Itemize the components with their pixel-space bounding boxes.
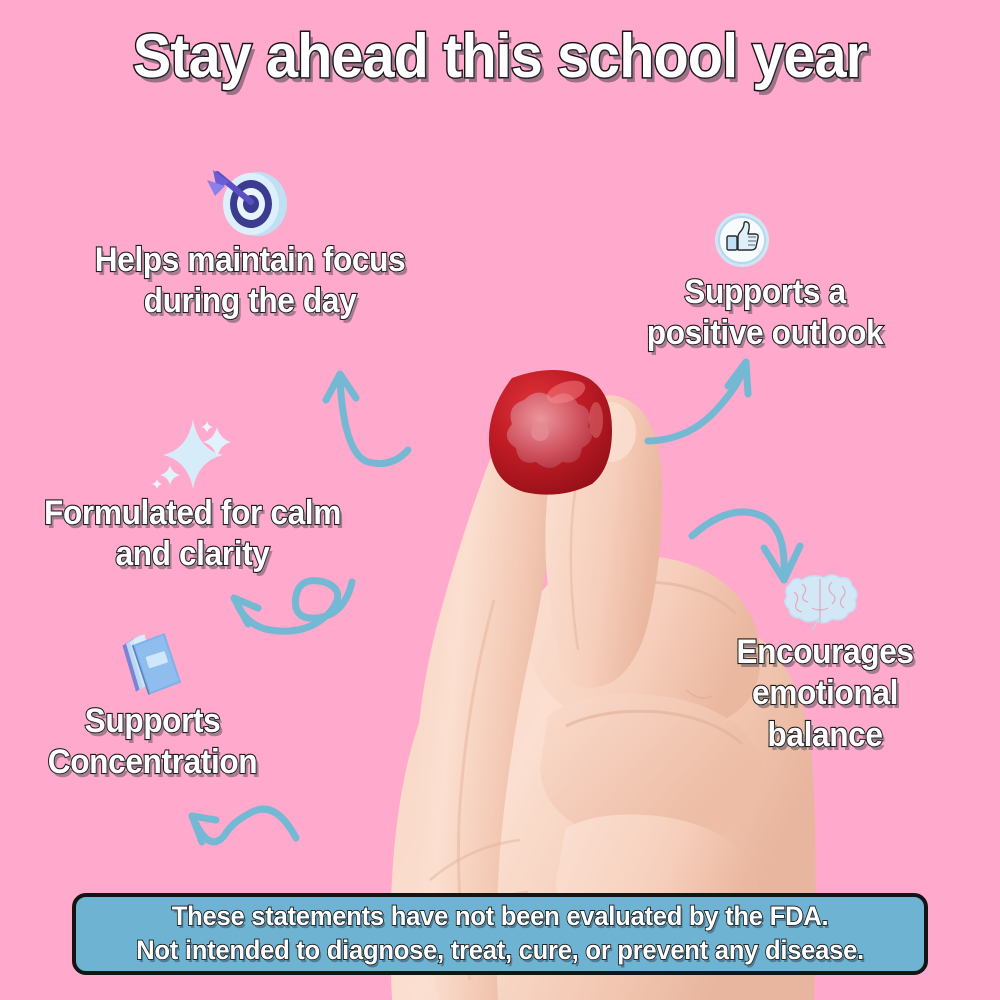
benefit-focus-label: Helps maintain focus during the day xyxy=(73,240,426,323)
sparkles-icon xyxy=(145,415,255,498)
benefit-emotional-label: Encourages emotional balance xyxy=(709,632,942,756)
arrow-to-calm-icon xyxy=(234,581,352,632)
arrow-to-concentration-icon xyxy=(192,809,296,842)
gummy-graphic xyxy=(489,370,612,495)
arrow-to-focus-icon xyxy=(326,374,408,464)
page-title: Stay ahead this school year xyxy=(35,22,965,91)
brain-icon xyxy=(782,570,862,637)
benefit-positive-label: Supports a positive outlook xyxy=(612,272,919,355)
benefit-concentration-label: Supports Concentration xyxy=(29,701,275,784)
books-icon xyxy=(112,625,192,710)
target-icon xyxy=(195,160,305,245)
arrow-to-positive-icon xyxy=(648,362,748,441)
fda-disclaimer-text: These statements have not been evaluated… xyxy=(136,900,864,968)
benefit-calm-label: Formulated for calm and clarity xyxy=(18,493,367,576)
fda-disclaimer-banner: These statements have not been evaluated… xyxy=(72,893,928,975)
promo-canvas: Stay ahead this school year Helps mainta… xyxy=(0,0,1000,1000)
thumbs-up-badge-icon xyxy=(712,210,772,275)
